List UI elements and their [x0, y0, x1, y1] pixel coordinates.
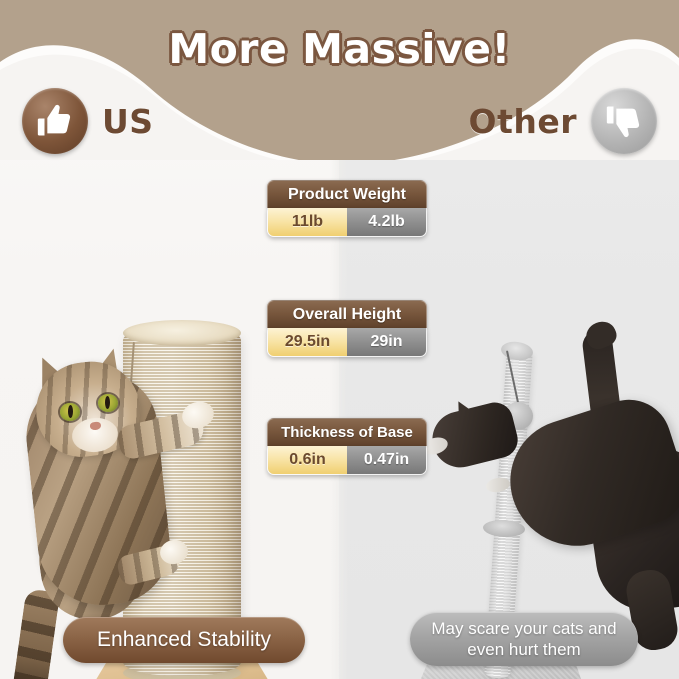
spec-row-product-weight: Product Weight 11lb 4.2lb [267, 180, 427, 237]
left-caption-badge: Enhanced Stability [63, 617, 305, 663]
right-caption-line-2: even hurt them [431, 639, 616, 660]
spec-value-other: 4.2lb [347, 208, 426, 236]
spec-values-row: 29.5in 29in [267, 328, 427, 357]
black-cat-head [426, 399, 521, 474]
spec-values-row: 11lb 4.2lb [267, 208, 427, 237]
spec-value-us: 0.6in [268, 446, 347, 474]
right-column-label: Other [469, 102, 577, 141]
black-cat-second-paw [485, 476, 511, 494]
page-title: More Massive! [0, 25, 679, 73]
spec-value-other: 29in [347, 328, 426, 356]
tabby-cat-right-pupil [105, 396, 110, 409]
right-caption-badge: May scare your cats and even hurt them [410, 612, 638, 666]
thumbs-up-icon [22, 88, 88, 154]
spec-values-row: 0.6in 0.47in [267, 446, 427, 475]
comparison-infographic: More Massive! US Other [0, 0, 679, 679]
tabby-cat [0, 150, 300, 600]
tabby-cat-left-pupil [68, 405, 73, 418]
spec-title: Product Weight [267, 180, 427, 208]
spec-value-us: 29.5in [268, 328, 347, 356]
spec-value-other: 0.47in [347, 446, 426, 474]
spec-value-us: 11lb [268, 208, 347, 236]
spec-title: Thickness of Base [267, 418, 427, 446]
left-column-header: US [22, 88, 154, 154]
thumbs-down-icon [591, 88, 657, 154]
left-caption-text: Enhanced Stability [97, 628, 271, 652]
spec-row-thickness-of-base: Thickness of Base 0.6in 0.47in [267, 418, 427, 475]
right-caption-line-1: May scare your cats and [431, 618, 616, 639]
left-column-label: US [102, 102, 154, 141]
spec-row-overall-height: Overall Height 29.5in 29in [267, 300, 427, 357]
right-column-header: Other [469, 88, 657, 154]
spec-title: Overall Height [267, 300, 427, 328]
